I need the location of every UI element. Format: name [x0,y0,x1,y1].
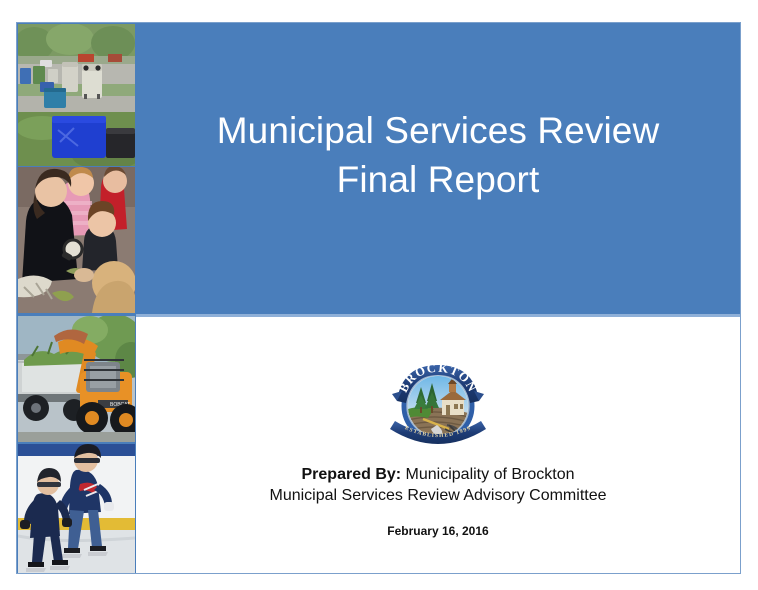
prepared-by-line: Prepared By: Municipality of Brockton [136,464,740,485]
photo-children-program [18,167,135,313]
photo-curbside-recycling [18,24,135,166]
page-title: Municipal Services Review Final Report [199,107,678,229]
title-band: Municipal Services Review Final Report [136,23,740,314]
report-cover-page: BOBCAT [16,22,741,574]
photo-skid-steer-loader: BOBCAT [18,316,135,442]
photo-children-skating [18,444,135,573]
cover-content-area: Municipal Services Review Final Report [136,23,740,573]
credits-area: BROCKTON ESTABLISHED 1999 Prepared By: M… [136,317,740,573]
prepared-by-value: Municipality of Brockton [401,466,574,483]
photo-strip: BOBCAT [17,23,136,573]
credit-block: Prepared By: Municipality of Brockton Mu… [136,464,740,538]
logo-container: BROCKTON ESTABLISHED 1999 [136,359,740,451]
brockton-crest-logo: BROCKTON ESTABLISHED 1999 [385,359,491,451]
prepared-by-label: Prepared By: [302,466,402,483]
committee-line: Municipal Services Review Advisory Commi… [136,485,740,506]
report-date: February 16, 2016 [136,524,740,538]
